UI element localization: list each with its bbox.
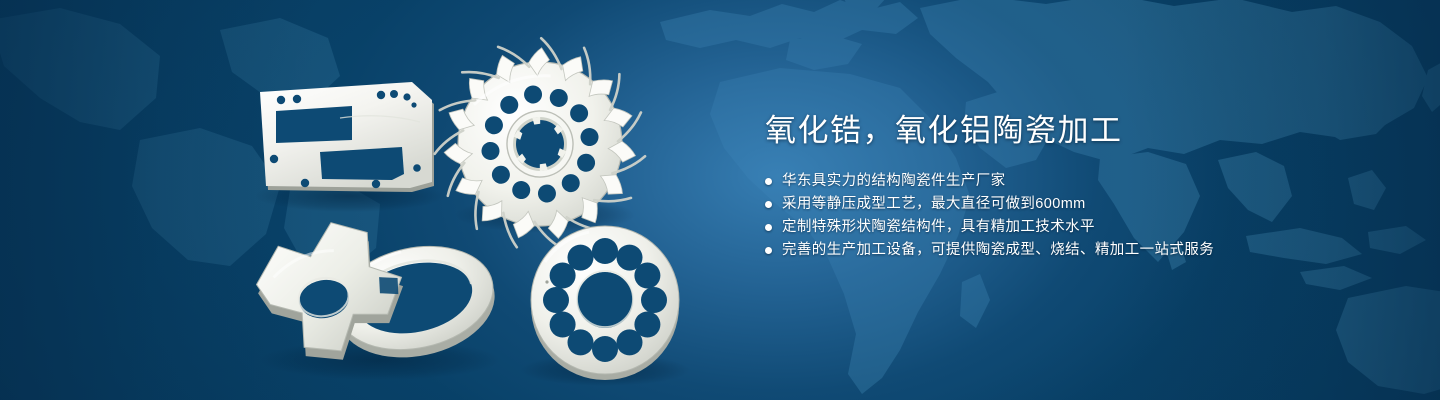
banner-text-block: 氧化锆，氧化铝陶瓷加工 华东具实力的结构陶瓷件生产厂家 采用等静压成型工艺，最大… bbox=[765, 112, 1365, 262]
ceramic-products-group bbox=[0, 0, 740, 400]
feature-item-2: 采用等静压成型工艺，最大直径可做到600mm bbox=[765, 193, 1365, 215]
feature-item-2-label: 采用等静压成型工艺，最大直径可做到600mm bbox=[782, 193, 1086, 215]
ceramic-processing-banner: 氧化锆，氧化铝陶瓷加工 华东具实力的结构陶瓷件生产厂家 采用等静压成型工艺，最大… bbox=[0, 0, 1440, 400]
feature-item-1: 华东具实力的结构陶瓷件生产厂家 bbox=[765, 170, 1365, 192]
bullet-dot-icon bbox=[765, 201, 772, 208]
feature-item-3: 定制特殊形状陶瓷结构件，具有精加工技术水平 bbox=[765, 216, 1365, 238]
ceramic-holed-ring-plate bbox=[531, 226, 679, 380]
bullet-dot-icon bbox=[765, 247, 772, 254]
feature-item-1-label: 华东具实力的结构陶瓷件生产厂家 bbox=[782, 170, 1006, 192]
banner-headline: 氧化锆，氧化铝陶瓷加工 bbox=[765, 112, 1365, 150]
feature-item-4-label: 完善的生产加工设备，可提供陶瓷成型、烧结、精加工一站式服务 bbox=[782, 239, 1214, 261]
bullet-dot-icon bbox=[765, 178, 772, 185]
feature-item-4: 完善的生产加工设备，可提供陶瓷成型、烧结、精加工一站式服务 bbox=[765, 239, 1365, 261]
ceramic-machined-plate bbox=[260, 82, 434, 192]
feature-item-3-label: 定制特殊形状陶瓷结构件，具有精加工技术水平 bbox=[782, 216, 1095, 238]
bullet-dot-icon bbox=[765, 224, 772, 231]
banner-feature-list: 华东具实力的结构陶瓷件生产厂家 采用等静压成型工艺，最大直径可做到600mm 定… bbox=[765, 170, 1365, 261]
